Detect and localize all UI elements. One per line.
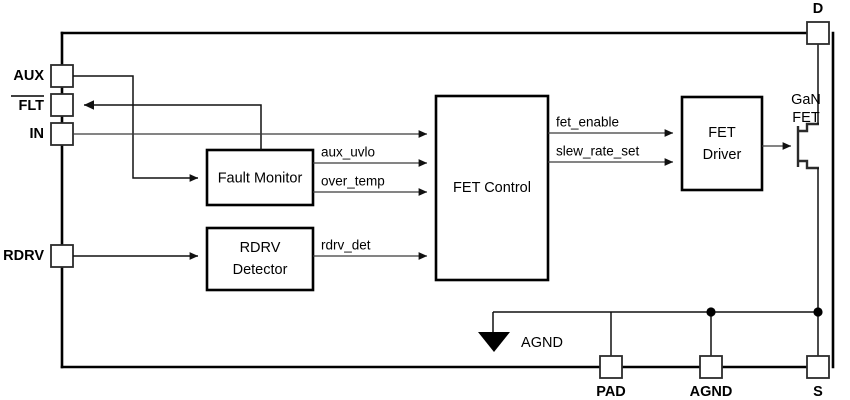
rdrv-detector-box [207,228,313,290]
pin-d-label: D [813,1,823,17]
signal-label-rdrv-det: rdrv_det [321,238,371,253]
fet-driver-box [682,97,762,190]
signal-label-aux-uvlo: aux_uvlo [321,145,375,160]
pin-aux-box [51,65,73,87]
pin-agnd-box [700,356,722,378]
pin-flt-box [51,94,73,116]
fault-monitor-label: Fault Monitor [218,170,303,186]
pin-in-label: IN [30,126,45,142]
signal-label-slew-rate-set: slew_rate_set [556,144,640,159]
diagram-canvas: Fault Monitor RDRV Detector FET Control … [0,0,850,400]
signal-label-fet-enable: fet_enable [556,115,619,130]
pin-flt[interactable]: FLT [11,94,73,116]
signal-label-over-temp: over_temp [321,174,385,189]
pin-flt-label: FLT [19,98,45,114]
pin-pad-label: PAD [596,384,626,400]
pin-pad[interactable]: PAD [596,356,626,400]
pin-d-box [807,22,829,44]
pin-agnd-label: AGND [690,384,733,400]
rdrv-detector-label-line1: RDRV [240,240,281,256]
pin-pad-box [600,356,622,378]
pin-d[interactable]: D [807,1,829,44]
pin-in[interactable]: IN [30,123,74,145]
junction-dot-agnd [706,307,715,316]
net-fault-monitor-to-flt [84,105,261,150]
fet-control-label: FET Control [453,180,531,196]
agnd-symbol-label: AGND [521,335,563,351]
ground-network: AGND [478,307,823,356]
gan-fet-annotation-line2: FET [792,110,820,126]
junction-dot-source [813,307,822,316]
pin-s-box [807,356,829,378]
pin-rdrv[interactable]: RDRV [3,245,73,267]
pin-in-box [51,123,73,145]
rdrv-detector-label-line2: Detector [233,262,288,278]
block-fault-monitor[interactable]: Fault Monitor [207,150,313,205]
fet-driver-label-line1: FET [708,125,736,141]
pin-agnd[interactable]: AGND [690,356,733,400]
block-fet-driver[interactable]: FET Driver [682,97,762,190]
pin-aux[interactable]: AUX [13,65,73,87]
pin-rdrv-label: RDRV [3,248,44,264]
fet-source-stub [798,161,819,168]
block-rdrv-detector[interactable]: RDRV Detector [207,228,313,290]
net-aux-to-fault-monitor [73,76,198,178]
agnd-ground-symbol-icon [478,332,510,352]
block-fet-control[interactable]: FET Control [436,96,548,280]
pin-aux-label: AUX [13,68,44,84]
gan-fet-annotation-line1: GaN [791,92,821,108]
gan-fet-symbol[interactable]: GaN FET [762,44,821,356]
pin-rdrv-box [51,245,73,267]
pin-s-label: S [813,384,823,400]
fet-driver-label-line2: Driver [703,147,742,163]
pin-s[interactable]: S [807,356,829,400]
block-diagram: Fault Monitor RDRV Detector FET Control … [0,0,850,400]
